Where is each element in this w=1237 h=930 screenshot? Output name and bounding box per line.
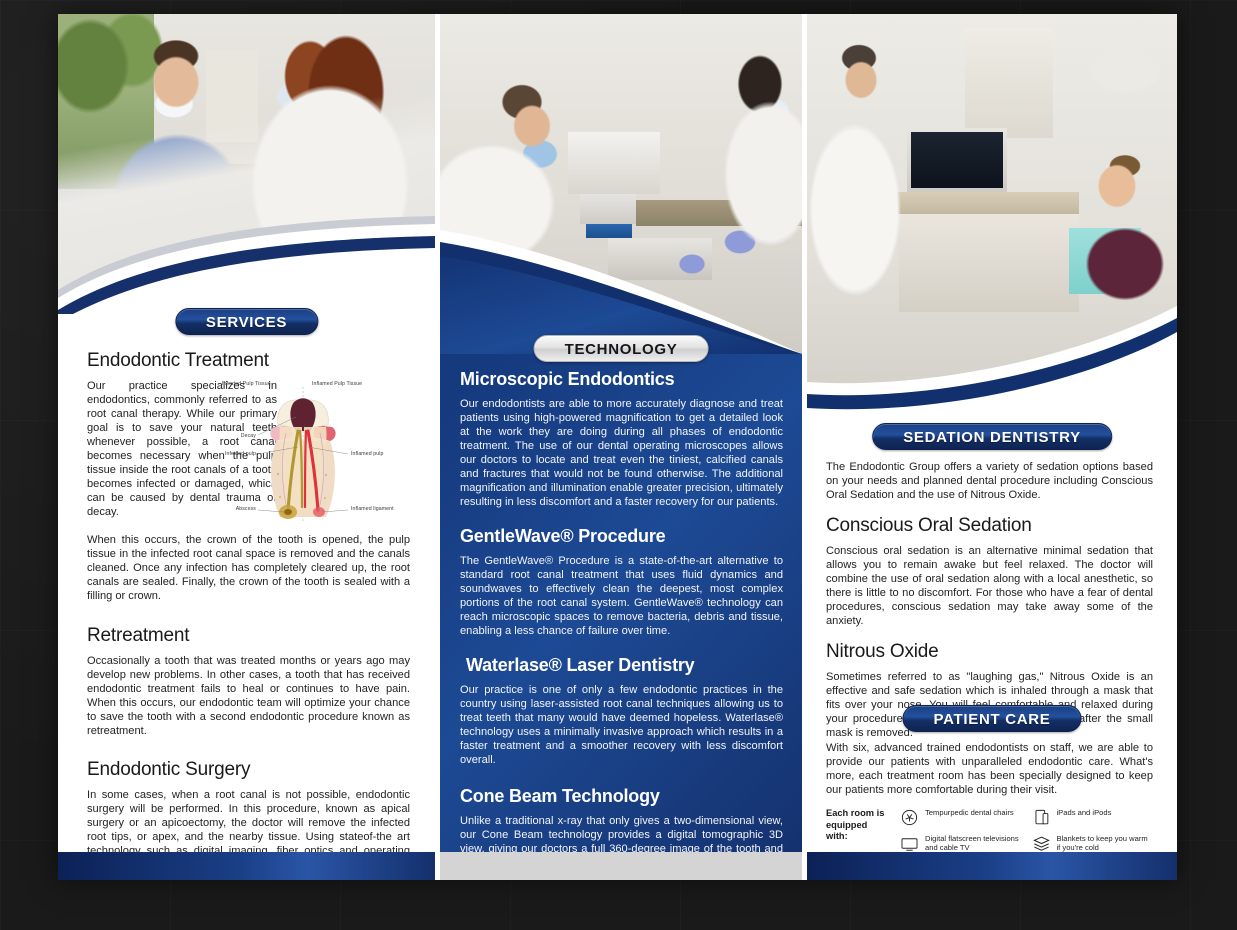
photo-doctor-reviewing-xray-with-patient [807,14,1177,414]
badge-sedation-dentistry: SEDATION DENTISTRY [872,423,1112,450]
equipment-lead-label: Each room is equipped with: [826,808,890,843]
equipment-list: Each room is equipped with: Tempurpedic … [826,808,1153,853]
television-icon [900,834,919,853]
dental-chair-icon [900,808,919,827]
badge-technology: TECHNOLOGY [534,335,709,362]
heading-conscious-oral-sedation: Conscious Oral Sedation [826,515,1153,537]
panel-services: SERVICES Endodontic Treatment Infected P… [58,14,435,880]
heading-retreatment: Retreatment [87,625,410,647]
paragraph-microscopic-endodontics: Our endodontists are able to more accura… [460,397,783,509]
equipment-item-blankets: Blankets to keep you warm if you're cold [1032,834,1154,853]
equipment-label: Tempurpedic dental chairs [925,808,1014,817]
heading-microscopic-endodontics: Microscopic Endodontics [460,369,783,390]
paragraph-endodontic-treatment-2: When this occurs, the crown of the tooth… [87,533,410,603]
heading-gentlewave-procedure: GentleWave® Procedure [460,526,783,547]
equipment-item-dental-chair: Tempurpedic dental chairs [900,808,1022,827]
heading-cone-beam-technology: Cone Beam Technology [460,786,783,807]
paragraph-patient-care-intro: With six, advanced trained endodontists … [826,741,1153,797]
equipment-item-television: Digital flatscreen televisions and cable… [900,834,1022,853]
paragraph-gentlewave-procedure: The GentleWave® Procedure is a state-of-… [460,554,783,638]
tooth-illustration [218,379,388,525]
technology-content: Microscopic Endodontics Our endodontists… [440,369,802,880]
heading-endodontic-treatment: Endodontic Treatment [87,350,410,372]
badge-patient-care: PATIENT CARE [902,705,1081,732]
paragraph-conscious-oral-sedation: Conscious oral sedation is an alternativ… [826,544,1153,628]
footer-bar-left [58,852,435,880]
patient-care-content: With six, advanced trained endodontists … [807,741,1177,853]
badge-services: SERVICES [175,308,318,335]
blankets-icon [1032,834,1051,853]
paragraph-waterlase-laser-dentistry: Our practice is one of only a few endodo… [460,683,783,767]
paragraph-retreatment: Occasionally a tooth that was treated mo… [87,654,410,738]
equipment-label: iPads and iPods [1057,808,1112,817]
tooth-diagram: Infected Pulp Tissue Inflamed Pulp Tissu… [218,379,388,525]
panel-technology: TECHNOLOGY Microscopic Endodontics Our e… [440,14,802,880]
panel-sedation-patient-care: SEDATION DENTISTRY The Endodontic Group … [807,14,1177,880]
footer-bar-right [807,852,1177,880]
equipment-label: Digital flatscreen televisions and cable… [925,834,1022,853]
photo-endodontist-at-microscope [440,14,802,354]
equipment-label: Blankets to keep you warm if you're cold [1057,834,1154,853]
services-content: Endodontic Treatment Infected Pulp Tissu… [58,350,435,880]
paragraph-sedation-intro: The Endodontic Group offers a variety of… [826,460,1153,502]
equipment-item-tablet: iPads and iPods [1032,808,1154,827]
tablet-icon [1032,808,1051,827]
heading-nitrous-oxide: Nitrous Oxide [826,641,1153,663]
heading-endodontic-surgery: Endodontic Surgery [87,759,410,781]
photo-dentist-and-assistant-operatory [58,14,435,314]
heading-waterlase-laser-dentistry: Waterlase® Laser Dentistry [466,655,783,676]
brochure: SERVICES Endodontic Treatment Infected P… [58,14,1177,880]
footer-bar-middle [440,852,802,880]
